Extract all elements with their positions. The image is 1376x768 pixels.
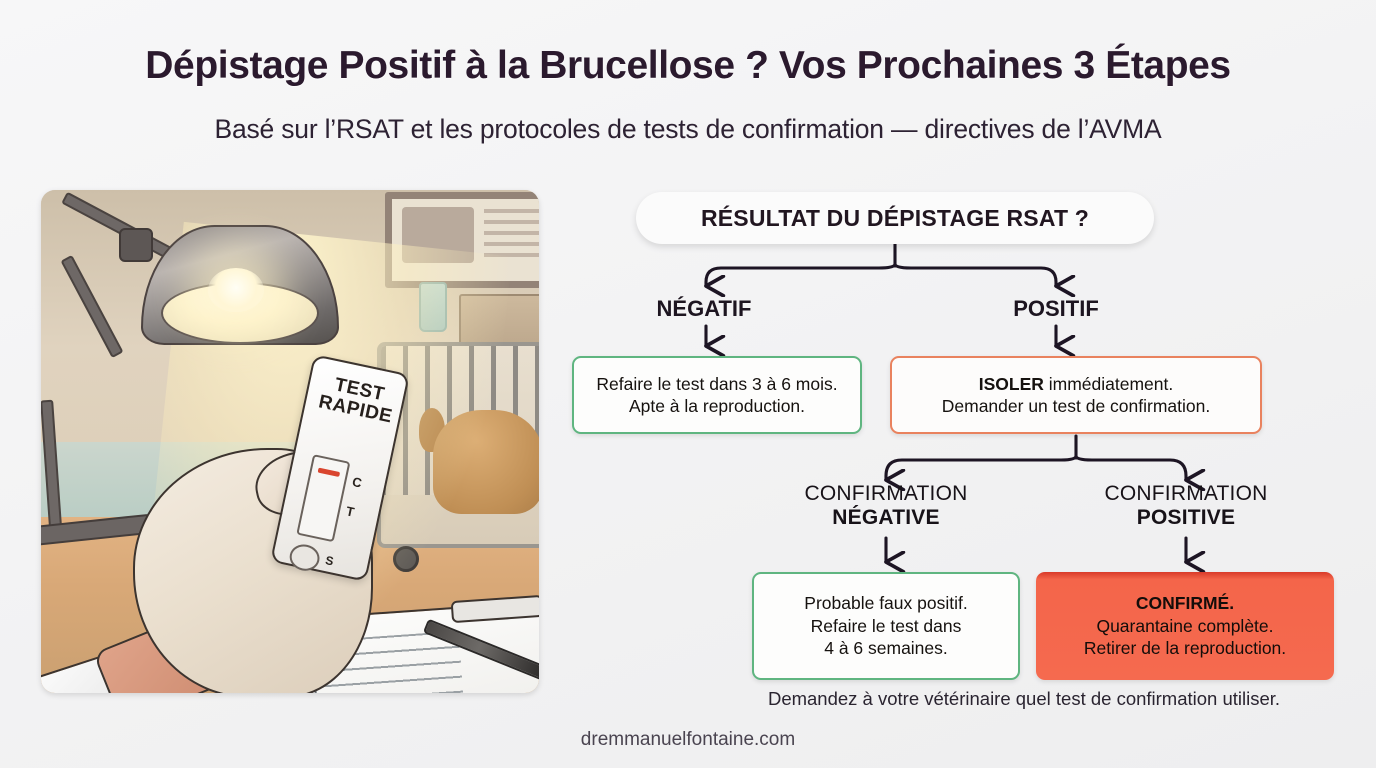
false-positive-line-2: Refaire le test dans — [804, 615, 967, 637]
negative-action-line-2: Apte à la reproduction. — [596, 395, 837, 417]
test-cassette-label: TEST RAPIDE — [314, 372, 401, 428]
flow-footnote: Demandez à votre vétérinaire quel test d… — [686, 688, 1362, 710]
veterinary-rapid-test-illustration: TEST RAPIDE C T S — [41, 190, 539, 693]
confirm-positive-line-1: CONFIRMATION — [1036, 482, 1336, 506]
flow-label-positive: POSITIF — [956, 296, 1156, 322]
flow-label-confirmation-positive: CONFIRMATION POSITIVE — [1036, 482, 1336, 530]
flow-box-false-positive: Probable faux positif. Refaire le test d… — [752, 572, 1020, 680]
test-result-window — [296, 454, 350, 542]
page-subtitle: Basé sur l’RSAT et les protocoles de tes… — [0, 114, 1376, 145]
lamp-joint — [119, 228, 153, 262]
flow-label-negative: NÉGATIF — [604, 296, 804, 322]
test-control-band — [318, 468, 341, 477]
negative-action-line-1: Refaire le test dans 3 à 6 mois. — [596, 373, 837, 395]
isolate-emphasis: ISOLER — [979, 374, 1044, 394]
confirmed-emphasis: CONFIRMÉ. — [1136, 593, 1234, 613]
confirm-negative-line-1: CONFIRMATION — [756, 482, 1016, 506]
confirmed-line-1: CONFIRMÉ. — [1084, 592, 1286, 614]
control-marker-label: C — [349, 467, 364, 498]
sample-marker-label: S — [324, 553, 335, 568]
false-positive-line-3: 4 à 6 semaines. — [804, 637, 967, 659]
lamp-bulb — [208, 268, 264, 312]
false-positive-line-1: Probable faux positif. — [804, 592, 967, 614]
confirm-negative-line-2: NÉGATIVE — [756, 506, 1016, 530]
flow-label-confirmation-negative: CONFIRMATION NÉGATIVE — [756, 482, 1016, 530]
page-title: Dépistage Positif à la Brucellose ? Vos … — [0, 44, 1376, 88]
positive-action-line-2: Demander un test de confirmation. — [942, 395, 1210, 417]
site-watermark: dremmanuelfontaine.com — [0, 729, 1376, 751]
confirmed-line-2: Quarantaine complète. — [1084, 615, 1286, 637]
confirm-positive-line-2: POSITIVE — [1036, 506, 1336, 530]
flow-box-positive-action: ISOLER immédiatement. Demander un test d… — [890, 356, 1262, 434]
decision-flowchart: RÉSULTAT DU DÉPISTAGE RSAT ? NÉGATIF POS… — [556, 186, 1356, 766]
isolate-rest: immédiatement. — [1044, 374, 1173, 394]
flow-box-negative-action: Refaire le test dans 3 à 6 mois. Apte à … — [572, 356, 862, 434]
flow-root-node: RÉSULTAT DU DÉPISTAGE RSAT ? — [636, 192, 1154, 244]
infographic-canvas: Dépistage Positif à la Brucellose ? Vos … — [0, 0, 1376, 768]
confirmed-line-3: Retirer de la reproduction. — [1084, 637, 1286, 659]
positive-action-line-1: ISOLER immédiatement. — [942, 373, 1210, 395]
test-marker-label: T — [343, 496, 358, 527]
flow-box-confirmed: CONFIRMÉ. Quarantaine complète. Retirer … — [1036, 572, 1334, 680]
